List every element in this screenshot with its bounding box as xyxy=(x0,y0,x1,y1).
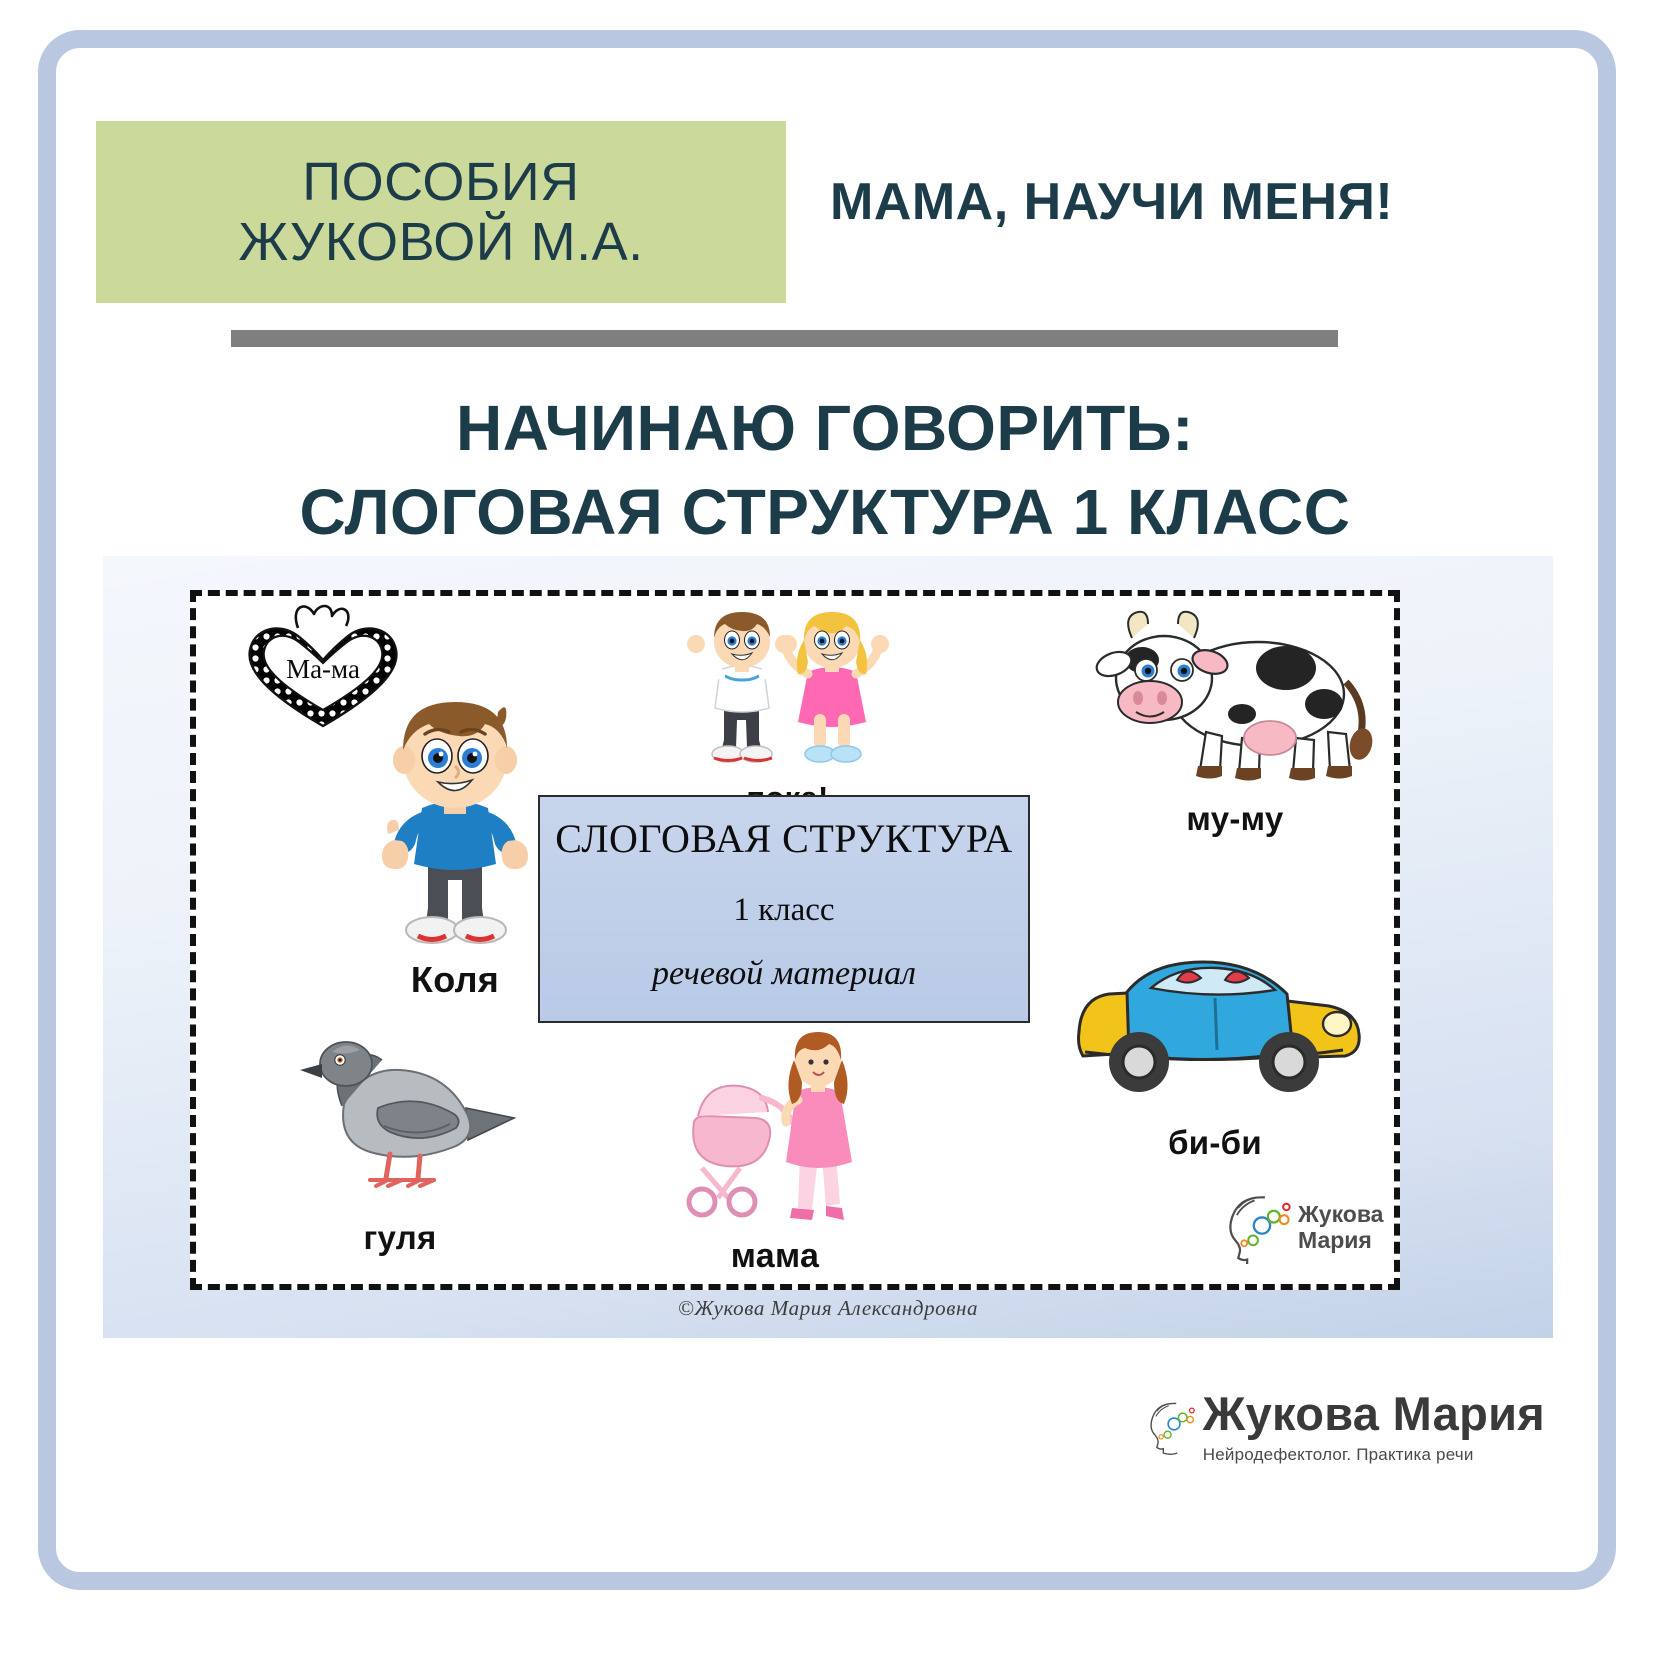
page-title-line1: НАЧИНАЮ ГОВОРИТЬ: xyxy=(456,392,1194,464)
tile-mumu: му-му xyxy=(1090,608,1380,838)
sheet-logo-line1: Жукова xyxy=(1298,1201,1383,1227)
brand-logo: Жукова Мария Нейродефектолог. Практика р… xyxy=(1145,1355,1545,1495)
page-title-line2: СЛОГОВАЯ СТРУКТУРА 1 КЛАСС xyxy=(110,470,1540,554)
tile-gulya: гуля xyxy=(280,1030,520,1255)
tile-mumu-caption: му-му xyxy=(1090,800,1380,838)
sheet-logo-line2: Мария xyxy=(1298,1227,1383,1253)
tile-gulya-caption: гуля xyxy=(280,1219,520,1257)
poster-root: ПОСОБИЯ ЖУКОВОЙ М.А. МАМА, НАУЧИ МЕНЯ! Н… xyxy=(0,0,1654,1654)
sheet-logo-text: Жукова Мария xyxy=(1298,1201,1383,1254)
green-banner: ПОСОБИЯ ЖУКОВОЙ М.А. xyxy=(96,121,786,303)
divider-rule xyxy=(231,330,1338,347)
tile-bibi: би-би xyxy=(1065,940,1365,1160)
toy-car-icon xyxy=(1065,940,1365,1115)
center-box-title: СЛОГОВАЯ СТРУКТУРА xyxy=(555,815,1013,862)
two-children-waving-icon xyxy=(680,608,895,773)
tile-mama-woman-caption: мама xyxy=(680,1237,870,1276)
pigeon-icon xyxy=(280,1030,520,1210)
tile-mama-heart-caption: Ма-ма xyxy=(228,654,418,685)
series-title: МАМА, НАУЧИ МЕНЯ! xyxy=(830,172,1470,232)
center-box-subtitle2: речевой материал xyxy=(652,955,916,993)
cow-icon xyxy=(1090,608,1380,793)
head-profile-logo-icon xyxy=(1145,1363,1199,1487)
sheet-logo: Жукова Мария xyxy=(1222,1178,1390,1276)
tile-bibi-caption: би-би xyxy=(1065,1124,1365,1162)
copyright-line: ©Жукова Мария Александровна xyxy=(103,1296,1553,1321)
worksheet-center-box: СЛОГОВАЯ СТРУКТУРА 1 класс речевой матер… xyxy=(538,795,1030,1023)
brand-tagline: Нейродефектолог. Практика речи xyxy=(1203,1445,1545,1465)
brand-text: Жукова Мария Нейродефектолог. Практика р… xyxy=(1203,1386,1545,1465)
head-profile-logo-icon xyxy=(1222,1190,1296,1264)
tile-poka: пока! xyxy=(680,608,895,808)
green-banner-line2: ЖУКОВОЙ М.А. xyxy=(238,212,643,272)
center-box-subtitle: 1 класс xyxy=(733,892,834,929)
green-banner-line1: ПОСОБИЯ xyxy=(302,152,579,212)
brand-name: Жукова Мария xyxy=(1203,1386,1545,1441)
woman-with-stroller-icon xyxy=(680,1030,870,1230)
page-title: НАЧИНАЮ ГОВОРИТЬ: СЛОГОВАЯ СТРУКТУРА 1 К… xyxy=(110,386,1540,555)
tile-mama-woman: мама xyxy=(680,1030,870,1270)
